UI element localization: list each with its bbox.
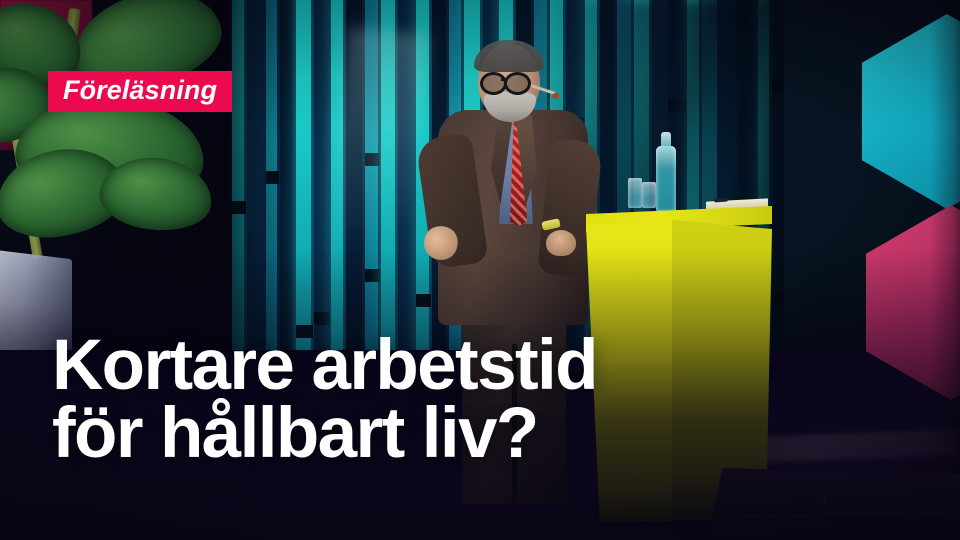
backdrop-notch — [231, 201, 246, 214]
drinking-glass — [642, 182, 656, 208]
backdrop-notch — [668, 99, 686, 112]
eyeglasses-icon — [480, 72, 507, 95]
presenter-hand-right — [546, 230, 576, 256]
water-bottle — [656, 146, 676, 212]
backdrop-slat — [381, 0, 395, 372]
backdrop-slat — [331, 0, 343, 372]
backdrop-slat — [280, 0, 293, 372]
presenter-hair — [474, 40, 544, 72]
backdrop-notch — [365, 153, 380, 166]
category-badge: Föreläsning — [48, 71, 232, 112]
backdrop-slat — [314, 0, 328, 372]
right-edge-shadow — [930, 0, 960, 540]
backdrop-notch — [365, 269, 380, 282]
backdrop-light-beam — [319, 27, 430, 334]
headline-line-1: Kortare arbetstid — [52, 332, 597, 400]
monitor-driver-dot — [816, 494, 826, 504]
drinking-glass — [628, 178, 642, 208]
headline-line-2: för hållbart liv? — [52, 400, 597, 468]
page-title: Kortare arbetstid för hållbart liv? — [52, 332, 597, 468]
backdrop-notch — [266, 171, 279, 184]
video-thumbnail: Föreläsning Kortare arbetstid för hållba… — [0, 0, 960, 540]
eyeglasses-icon — [504, 72, 531, 95]
backdrop-slat — [296, 0, 311, 372]
backdrop-slat — [247, 0, 263, 372]
backdrop-slat — [346, 0, 362, 372]
water-bottle-neck — [661, 132, 671, 149]
microphone-windscreen — [552, 93, 559, 99]
backdrop-slat — [365, 0, 378, 372]
backdrop-notch — [772, 81, 784, 94]
eyeglasses-bridge — [501, 78, 506, 81]
backdrop-notch — [314, 312, 330, 325]
plinth-face-left — [586, 222, 672, 522]
backdrop-slat — [231, 0, 244, 372]
floor-wedge-monitor — [706, 468, 960, 540]
backdrop-slat — [266, 0, 277, 372]
backdrop-slat — [398, 0, 413, 372]
